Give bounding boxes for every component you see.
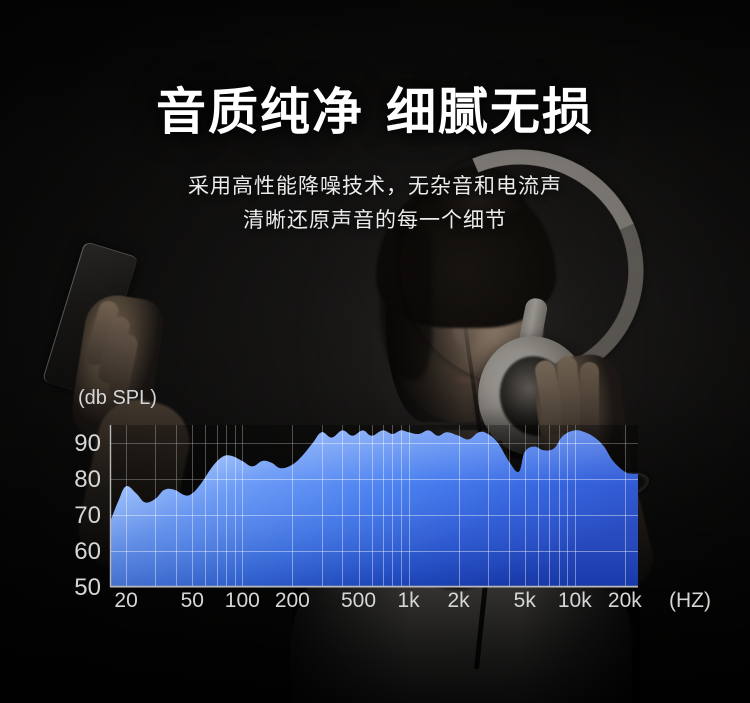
- subheadline-line-1: 采用高性能降噪技术，无杂音和电流声: [0, 170, 750, 200]
- subheadline-line-2: 清晰还原声音的每一个细节: [0, 204, 750, 234]
- headline: 音质纯净细腻无损: [0, 84, 750, 140]
- headline-part-2: 细腻无损: [386, 84, 594, 140]
- banner-root: 音质纯净细腻无损 采用高性能降噪技术，无杂音和电流声 清晰还原声音的每一个细节: [0, 0, 750, 703]
- headline-part-1: 音质纯净: [156, 84, 364, 140]
